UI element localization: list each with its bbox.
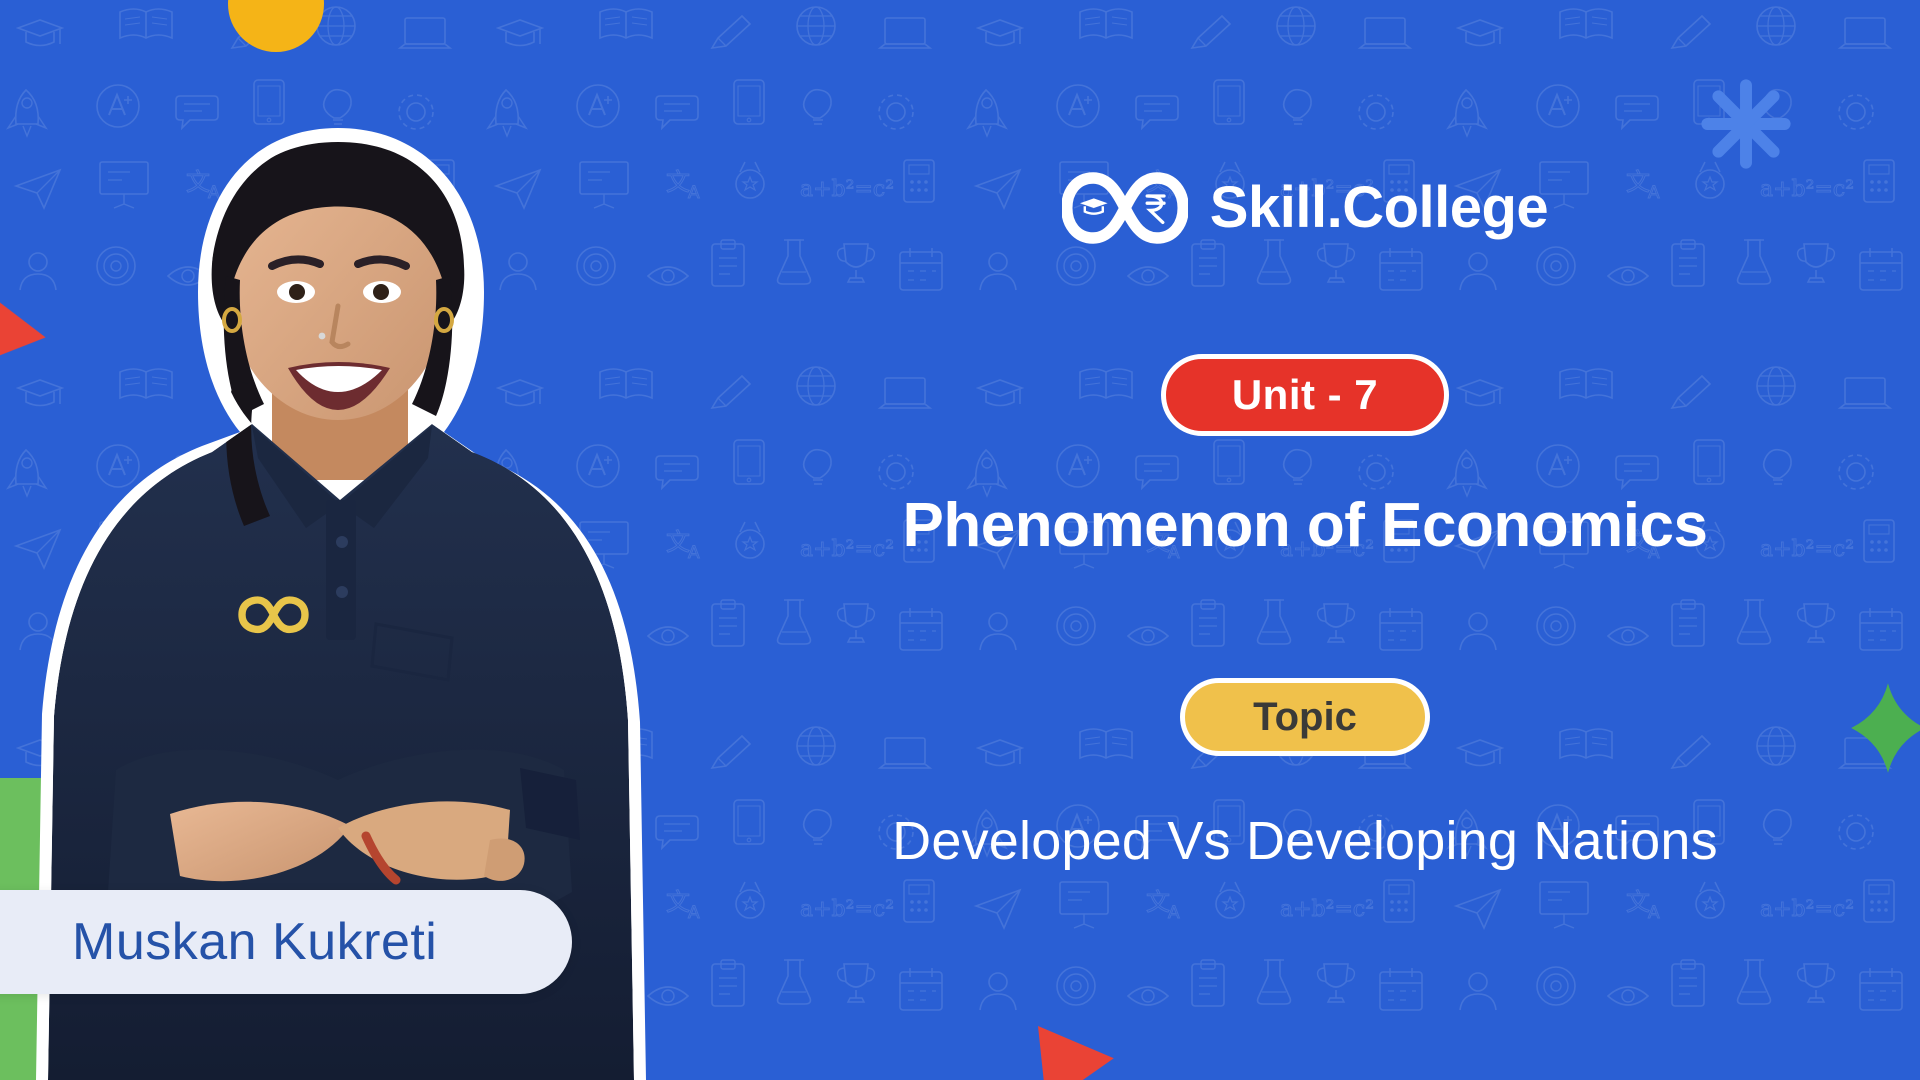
brand-name: Skill.College	[1210, 179, 1548, 237]
presenter-name: Muskan Kukreti	[72, 912, 437, 972]
brand-logo: Skill.College	[1062, 172, 1548, 244]
lesson-title: Phenomenon of Economics	[903, 492, 1708, 560]
unit-badge: Unit - 7	[1161, 354, 1449, 436]
lesson-slide: a+b²=c² 文 A	[0, 0, 1920, 1080]
infinity-logo-icon	[1062, 172, 1188, 244]
yellow-circle-decoration	[228, 0, 324, 52]
lesson-subtitle: Developed Vs Developing Nations	[892, 812, 1718, 871]
presenter-name-tag: Muskan Kukreti	[0, 890, 572, 994]
topic-badge: Topic	[1180, 678, 1430, 756]
slide-content: Skill.College Unit - 7 Phenomenon of Eco…	[690, 0, 1920, 1080]
